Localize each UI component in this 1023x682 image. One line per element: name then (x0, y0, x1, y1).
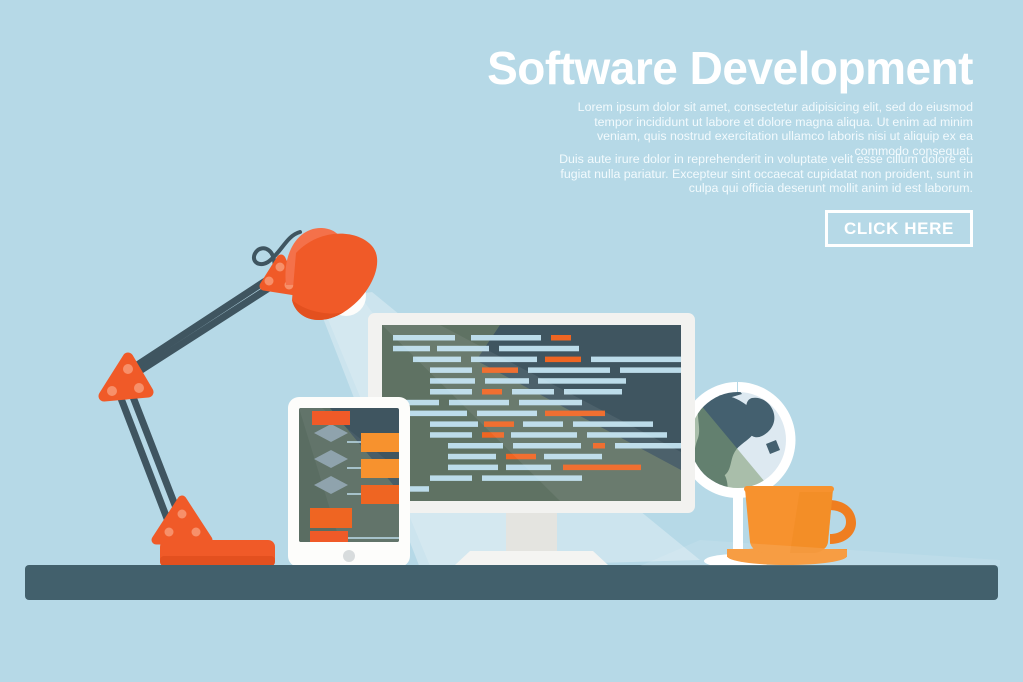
tablet-home-button[interactable] (343, 550, 355, 562)
code-line-segment (545, 357, 581, 363)
paragraph-2: Duis aute irure dolor in reprehenderit i… (553, 152, 973, 196)
code-line-segment (471, 335, 541, 341)
paragraph-1: Lorem ipsum dolor sit amet, consectetur … (553, 100, 973, 158)
code-line-segment (499, 346, 579, 352)
code-line-segment (564, 389, 622, 395)
flowchart-box-task-3 (361, 485, 399, 504)
lamp-base-shadow (160, 556, 275, 566)
code-line-segment (430, 475, 472, 481)
code-line-segment (430, 432, 472, 438)
flowchart-box-task-1 (361, 433, 399, 452)
flowchart-decisions (314, 424, 348, 494)
code-line-segment (538, 378, 626, 384)
flowchart-box-task-4 (310, 508, 352, 528)
illustration-stage: Software Development Lorem ipsum dolor s… (0, 0, 1023, 682)
click-here-button[interactable]: CLICK HERE (825, 210, 973, 247)
flowchart-box-task-2 (361, 459, 399, 478)
code-line-segment (403, 411, 467, 417)
code-line-segment (430, 421, 478, 427)
code-line-segment (528, 367, 610, 373)
page-title: Software Development (487, 44, 973, 92)
code-line-segment (448, 443, 503, 449)
code-line-segment (448, 465, 498, 471)
flowchart-box-start (312, 411, 350, 425)
code-line-segment (448, 454, 496, 460)
monitor-stand-base (455, 551, 608, 565)
cup-rim (744, 486, 834, 492)
desk (25, 565, 998, 600)
code-line-segment (591, 357, 696, 363)
tablet (288, 397, 410, 567)
code-line-segment (551, 335, 571, 341)
